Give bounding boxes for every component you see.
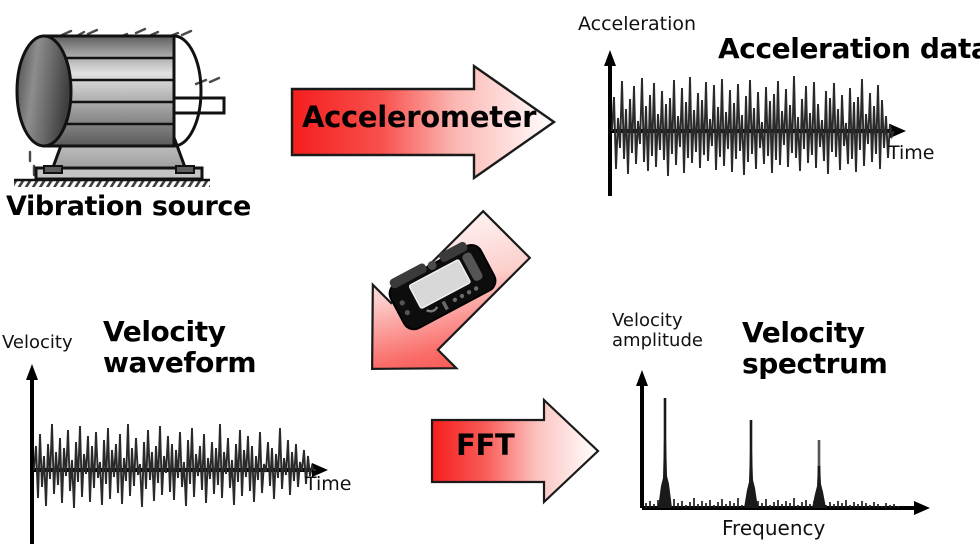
velocity-spectrum-title: Velocity spectrum [742,317,887,380]
acceleration-data-title: Acceleration data [718,33,980,64]
handheld-vibration-analyzer-icon[interactable] [378,238,508,338]
spectrum-axes [636,370,930,515]
motor-body [17,36,201,146]
spectrum-x-axis-label: Frequency [722,517,825,539]
acceleration-y-axis-label: Acceleration [578,14,696,35]
velocity-x-axis-label: Time [305,474,352,495]
diagram-canvas: Vibration source Accelerometer [0,0,980,549]
acceleration-waveform-trace [612,76,894,176]
velocity-waveform-plot [18,358,348,548]
ground-line [14,180,210,187]
acceleration-x-axis-label: Time [888,143,935,164]
velocity-y-axis-label: Velocity [2,333,73,353]
spectrum-peak-3 [812,440,826,508]
accelerometer-arrow-label: Accelerometer [302,100,536,134]
velocity-waveform-chart [18,358,348,548]
fft-arrow-label: FFT [456,428,515,462]
velocity-spectrum-plot [628,358,958,528]
velocity-waveform-trace [34,424,316,508]
spectrum-peak-2 [744,420,758,508]
analyzer-device-body [378,238,508,338]
vibration-source-caption: Vibration source [6,192,251,222]
spectrum-peak-1 [658,398,672,508]
velocity-waveform-title: Velocity waveform [103,316,256,379]
spectrum-y-axis-label: Velocity amplitude [612,311,703,351]
velocity-spectrum-chart [628,358,958,528]
